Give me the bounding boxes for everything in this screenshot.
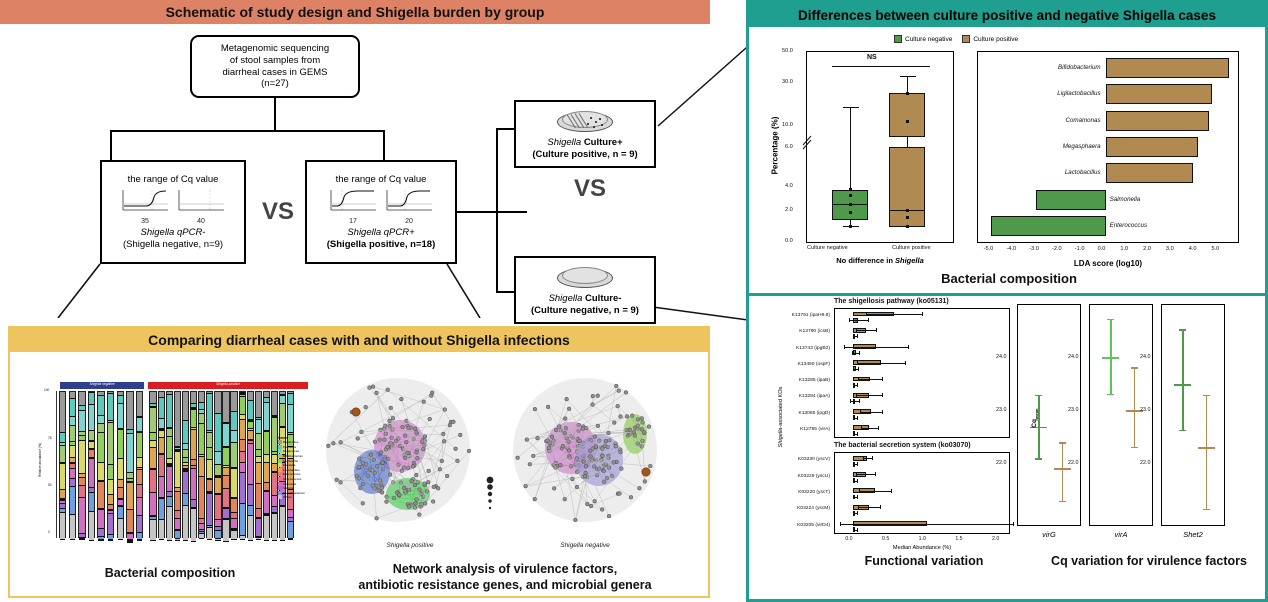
stacked-segment (223, 448, 228, 466)
network-node (326, 444, 330, 448)
stacked-segment (89, 493, 94, 512)
network-label-positive: Shigella positive (350, 542, 470, 549)
functional-error-bar (850, 401, 859, 402)
error-cap (857, 334, 858, 338)
qpcr-neg-cq-2: 40 (176, 218, 226, 227)
network-node (381, 461, 385, 465)
culture-pos-label-2: (Culture positive, n = 9) (532, 149, 637, 161)
lda-bar-label: Salmonella (1110, 196, 1141, 203)
stacked-segment (70, 479, 75, 487)
network-node (414, 473, 418, 477)
stacked-segment (70, 392, 75, 399)
network-node (628, 428, 632, 432)
culture-negative-box: Shigella Culture- (Culture negative, n =… (514, 256, 656, 324)
legend-swatch (278, 454, 282, 458)
stacked-segment (137, 458, 142, 468)
stacked-segment (240, 473, 245, 505)
network-node (596, 394, 600, 398)
network-label-negative: Shigella negative (525, 542, 645, 549)
lda-bar-label: Ligilactobacillus (1057, 90, 1100, 97)
network-node (585, 502, 589, 506)
connector-culture-vertical (496, 128, 498, 293)
stacked-bars-area (59, 391, 309, 538)
stacked-segment (272, 496, 277, 507)
stacked-segment (175, 492, 180, 511)
qpcr-pos-cq-2: 20 (384, 218, 434, 227)
network-node (403, 434, 407, 438)
comparing-panel: Comparing diarrheal cases with and witho… (8, 326, 710, 598)
stacked-segment (207, 528, 212, 539)
stacked-segment (207, 433, 212, 448)
ko-label: K13743 (ipgB2) (750, 346, 830, 351)
stacked-bar (88, 391, 95, 538)
stacked-segment (215, 539, 220, 541)
stacked-segment (167, 395, 172, 428)
lda-bar (1036, 190, 1105, 210)
error-cap (853, 367, 854, 371)
functional-error-bar (856, 474, 875, 475)
network-node (600, 508, 604, 512)
error-cap (866, 312, 867, 316)
cq-ylabel: Cqmean (1031, 388, 1039, 448)
lda-bar-label: Bifidobacterium (1058, 64, 1101, 71)
stacked-segment (191, 500, 196, 508)
network-node (643, 480, 647, 484)
network-node (591, 394, 595, 398)
stacked-segment (264, 455, 269, 463)
stacked-segment (60, 513, 65, 540)
stacked-segment (288, 522, 293, 539)
stacked-segment (183, 494, 188, 506)
stacked-bar (149, 391, 156, 538)
stacked-segment (150, 520, 155, 540)
network-node (421, 447, 425, 451)
amplification-curve-icon (176, 188, 226, 214)
culture-legend: Culture negative Culture positive (894, 35, 1018, 43)
ko-label: K13790 (icsB) (750, 329, 830, 334)
differences-panel: Differences between culture positive and… (746, 0, 1268, 296)
ytick-100: 100 (44, 388, 49, 392)
cq-ytick: 24.0 (1140, 354, 1151, 360)
error-cap (857, 511, 858, 515)
cq-mean-marker (1102, 357, 1119, 359)
stacked-segment (137, 498, 142, 517)
functional-ylabel: Shigella-associated KOs (778, 347, 784, 487)
error-cap (857, 528, 858, 532)
network-analysis-chart: Shigella positive Shigella negative (310, 362, 700, 562)
network-node (531, 454, 535, 458)
stacked-segment (60, 464, 65, 490)
network-node (438, 467, 442, 471)
error-cap (882, 393, 883, 397)
stacked-segment (79, 441, 84, 474)
error-cap (840, 522, 841, 526)
stacked-segment (231, 392, 236, 412)
stacked-segment (137, 392, 142, 417)
cq-error-bar (1062, 442, 1063, 500)
cq-error-bar (1206, 395, 1207, 509)
petri-dish-negative-icon (557, 265, 613, 291)
legend-text: Megamonas (283, 449, 299, 453)
stacked-segment (118, 507, 123, 519)
qpcr-pos-header: the range of Cq value (336, 174, 427, 186)
stacked-segment (223, 520, 228, 542)
caption-network-line-2: antibiotic resistance genes, and microbi… (310, 578, 700, 594)
stacked-segment (150, 470, 155, 493)
network-graph (310, 362, 700, 562)
stacked-segment (183, 506, 188, 541)
stacked-segment (240, 452, 245, 463)
stacked-segment (70, 515, 75, 539)
stacked-segment (183, 392, 188, 421)
stacked-segment (108, 465, 113, 480)
lda-xtick: 2.0 (1143, 246, 1151, 252)
stacked-segment (98, 424, 103, 433)
functional-error-bar (852, 353, 859, 354)
network-node (431, 500, 435, 504)
network-node (391, 416, 395, 420)
stacked-segment (79, 486, 84, 498)
stacked-segment (240, 536, 245, 540)
caption-differences-bacterial-composition: Bacterial composition (879, 271, 1139, 287)
boxplot-xlabel-genus: Shigella (895, 256, 924, 265)
stacked-segment (223, 392, 228, 423)
network-node (385, 500, 389, 504)
network-node (432, 485, 436, 489)
network-node (567, 407, 571, 411)
error-cap (853, 383, 854, 387)
stacked-segment (264, 403, 269, 431)
cq-error-cap (1059, 501, 1066, 502)
qpcr-pos-label-2: (Shigella positive, n=18) (327, 239, 436, 251)
network-node (388, 473, 392, 477)
error-cap (858, 377, 859, 381)
stacked-segment (60, 446, 65, 463)
network-node (426, 480, 430, 484)
network-size-legend-node (488, 499, 491, 502)
lda-bar (1106, 58, 1229, 78)
boxplot-xtick-positive: Culture positive (892, 245, 931, 251)
stacked-segment (118, 480, 123, 488)
stacked-segment (108, 495, 113, 505)
stacked-segment (127, 510, 132, 534)
stacked-segment (264, 483, 269, 491)
ytick-75: 75 (48, 436, 52, 440)
network-node (571, 477, 575, 481)
legend-text: Faecalibacterium (283, 491, 305, 495)
error-cap (858, 367, 859, 371)
network-node (516, 456, 520, 460)
legend-swatch (278, 449, 282, 453)
culture-neg-suffix: Culture- (585, 293, 621, 304)
stacked-bar (239, 391, 246, 538)
error-cap (868, 318, 869, 322)
error-cap (875, 472, 876, 476)
functional-xtick: 1.0 (919, 536, 926, 542)
legend-swatch-culture-negative (894, 35, 902, 43)
stacked-segment (231, 469, 236, 498)
legend-label-culture-positive: Culture positive (973, 36, 1018, 43)
stacked-segment (79, 478, 84, 486)
error-cap (1013, 522, 1014, 526)
network-node (612, 461, 616, 465)
network-node (554, 428, 558, 432)
legend-text: Others (283, 495, 292, 499)
stacked-segment (70, 399, 75, 417)
legend-swatch (278, 477, 282, 481)
network-node (467, 449, 471, 453)
network-node (596, 424, 600, 428)
error-cap (856, 328, 857, 332)
stacked-segment (89, 431, 94, 440)
stacked-bar (78, 391, 85, 538)
error-cap (859, 399, 860, 403)
functional-xtick: 0.5 (882, 536, 889, 542)
stacked-segment (118, 459, 123, 480)
stacked-segment (79, 498, 84, 534)
ko-label: K13285 (ipaB) (750, 378, 830, 383)
stacked-bar (107, 391, 114, 538)
legend-swatch (278, 495, 282, 499)
network-node (364, 405, 368, 409)
network-node (563, 431, 567, 435)
bottom-right-panel: The shigellosis pathway (ko05131) K13791… (746, 296, 1268, 602)
stacked-segment (256, 519, 261, 537)
error-cap (905, 361, 906, 365)
functional-ylabel-genus: Shigella (778, 428, 784, 448)
network-hub-node (642, 468, 650, 476)
stacked-bar (190, 391, 197, 538)
stacked-segment (150, 433, 155, 441)
network-node (458, 433, 462, 437)
stacked-segment (272, 514, 277, 541)
stacked-segment (89, 512, 94, 541)
stacked-segment (199, 403, 204, 410)
cq-facet-Shet2 (1161, 304, 1225, 526)
stacked-bar (182, 391, 189, 538)
cq-ytick: 23.0 (1140, 407, 1151, 413)
network-node (400, 397, 404, 401)
stacked-segment (60, 392, 65, 433)
qpcr-neg-header: the range of Cq value (128, 174, 219, 186)
error-cap (852, 351, 853, 355)
legend-swatch (278, 445, 282, 449)
group-label-negative: Shigella negative (60, 382, 144, 386)
boxplot-ytick-2: 2.0 (785, 207, 793, 213)
network-node (452, 420, 456, 424)
error-cap (859, 351, 860, 355)
root-line-4: (n=27) (261, 78, 289, 90)
lda-xtick: 4.0 (1189, 246, 1197, 252)
stacked-segment (150, 493, 155, 516)
bpneg-point (849, 225, 852, 228)
bppos-point (906, 209, 909, 212)
network-node (410, 479, 414, 483)
bacterial-composition-chart: Shigella negative Shigella positive 100 … (32, 368, 302, 558)
stacked-segment (127, 392, 132, 430)
stacked-segment (215, 414, 220, 451)
stacked-legend-item: Faecalibacterium (278, 491, 305, 496)
lda-bar (1106, 111, 1210, 131)
stacked-segment (191, 509, 196, 542)
qpcr-pos-cq-1: 17 (328, 218, 378, 227)
stacked-segment (240, 504, 245, 536)
boxplot-ytick-0: 0.0 (785, 238, 793, 244)
error-cap (849, 318, 850, 322)
network-node (563, 417, 567, 421)
stacked-segment (118, 519, 123, 540)
cq-error-cap (1131, 367, 1138, 368)
error-cap (922, 312, 923, 316)
error-cap (857, 462, 858, 466)
legend-swatch-culture-positive (962, 35, 970, 43)
stacked-segment (280, 507, 285, 541)
legend-text: Bifidobacterium (283, 454, 303, 458)
stacked-segment (89, 393, 94, 404)
qpcr-positive-box: the range of Cq value 17 (305, 160, 457, 264)
stacked-segment (215, 392, 220, 414)
axis-break-marks (802, 134, 816, 150)
network-node (582, 460, 586, 464)
stacked-bar (198, 391, 205, 538)
cq-ytick: 23.0 (996, 407, 1007, 413)
network-node (414, 501, 418, 505)
network-node (356, 437, 360, 441)
error-cap (882, 377, 883, 381)
cq-mean-marker (1054, 468, 1071, 470)
stacked-segment (118, 430, 123, 459)
network-node (379, 450, 383, 454)
network-node (588, 449, 592, 453)
cq-error-cap (1203, 509, 1210, 510)
legend-text: Streptococcus (283, 477, 301, 481)
network-node (448, 423, 452, 427)
stacked-segment (256, 509, 261, 518)
network-node (428, 417, 432, 421)
stacked-segment (108, 423, 113, 465)
error-cap (863, 456, 864, 460)
stacked-segment (98, 433, 103, 464)
error-cap (856, 472, 857, 476)
error-cap (853, 479, 854, 483)
stacked-bar (222, 391, 229, 538)
stacked-segment (70, 426, 75, 441)
network-node (528, 462, 532, 466)
stacked-segment (256, 463, 261, 484)
stacked-segment (231, 431, 236, 442)
stacked-segment (70, 446, 75, 458)
network-node (584, 471, 588, 475)
network-cluster (326, 378, 470, 522)
stacked-segment (127, 542, 132, 543)
connector-left-down (110, 130, 112, 160)
stacked-segment (70, 487, 75, 515)
functional-error-bar (849, 320, 868, 321)
cq-ytick: 22.0 (996, 460, 1007, 466)
legend-label-culture-negative: Culture negative (905, 36, 952, 43)
stacked-segment (215, 531, 220, 539)
stacked-segment (137, 485, 142, 498)
stacked-segment (159, 438, 164, 454)
error-cap (853, 511, 854, 515)
network-node (525, 438, 529, 442)
network-node (397, 493, 401, 497)
legend-text: Enterococcus (283, 472, 301, 476)
stacked-segment (127, 434, 132, 473)
legend-text: Prevotella (283, 445, 296, 449)
stacked-segment (89, 459, 94, 488)
stacked-segment (215, 495, 220, 519)
secretion-system-chart (834, 452, 1010, 534)
boxplot-ytick-6: 6.0 (785, 144, 793, 150)
stacked-segment (98, 482, 103, 509)
network-node (429, 394, 433, 398)
caption-network-analysis: Network analysis of virulence factors, a… (310, 562, 700, 593)
network-node (417, 513, 421, 517)
error-cap (872, 456, 873, 460)
stacked-segment (127, 483, 132, 510)
network-node (533, 407, 537, 411)
network-node (361, 501, 365, 505)
legend-text: Bacteroides (283, 440, 298, 444)
legend-swatch (278, 486, 282, 490)
cq-ytick: 24.0 (996, 354, 1007, 360)
stacked-segment (150, 408, 155, 433)
bppos-point (906, 92, 909, 95)
legend-text: Veillonella (283, 482, 296, 486)
network-node (536, 436, 540, 440)
stacked-segment (272, 473, 277, 496)
stacked-segment (79, 539, 84, 540)
lda-xtick: -5.0 (984, 246, 994, 252)
stacked-segment (256, 434, 261, 451)
vs-right-label: VS (574, 175, 606, 203)
stacked-segment (167, 429, 172, 437)
stacked-segment (264, 516, 269, 540)
cq-facet-label: Shet2 (1161, 530, 1225, 539)
network-node (581, 427, 585, 431)
stacked-segment (280, 404, 285, 427)
boxplot-ytick-50: 50.0 (782, 48, 793, 54)
stacked-segment (183, 450, 188, 457)
network-node (440, 459, 444, 463)
network-node (619, 450, 623, 454)
network-node (546, 439, 550, 443)
qpcr-neg-cq-1: 35 (120, 218, 170, 227)
error-cap (853, 528, 854, 532)
stacked-segment (159, 499, 164, 520)
network-node (423, 435, 427, 439)
stacked-segment (223, 476, 228, 488)
ns-bracket (832, 66, 930, 67)
network-node (589, 455, 593, 459)
stacked-bar (69, 391, 76, 538)
stacked-segment (98, 529, 103, 537)
stacked-segment (248, 401, 253, 420)
network-node (552, 486, 556, 490)
stacked-legend-item: Bifidobacterium (278, 454, 305, 459)
cq-error-cap (1179, 430, 1186, 431)
network-node (422, 400, 426, 404)
network-node (559, 463, 563, 467)
network-node (632, 430, 636, 434)
stacked-segment (248, 516, 253, 541)
error-cap (882, 410, 883, 414)
stacked-segment (150, 392, 155, 404)
boxplot-xlabel: No difference in Shigella (806, 256, 954, 265)
stacked-segment (98, 540, 103, 541)
boxplot-xtick-negative: Culture negative (807, 245, 848, 251)
